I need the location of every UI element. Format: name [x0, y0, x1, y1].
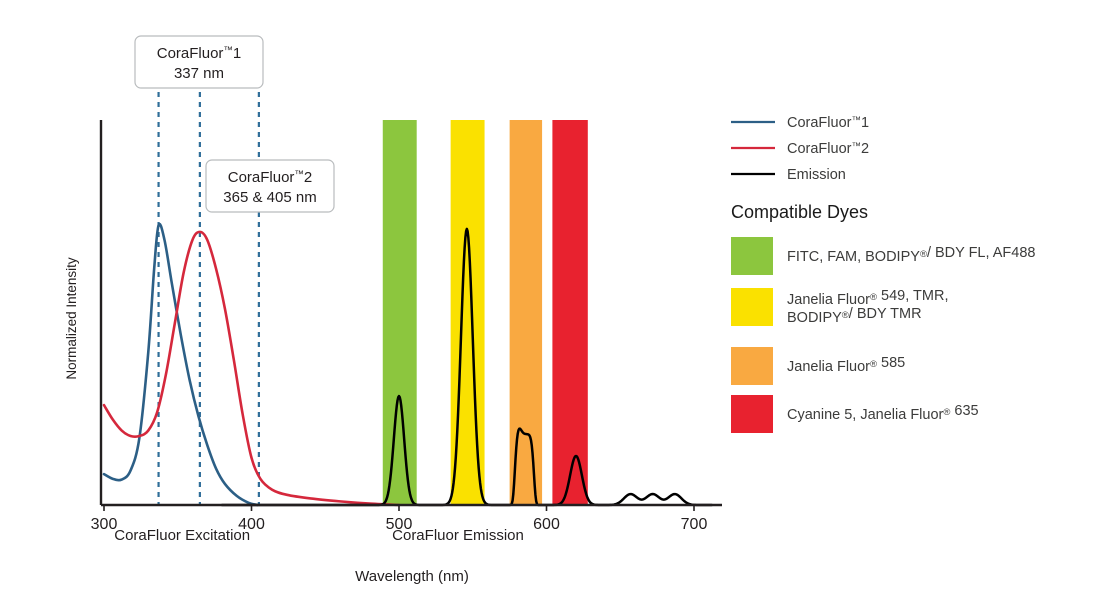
- callout-line-2: 337 nm: [174, 65, 224, 82]
- dye-label-3-line-1: Janelia Fluor® 585: [787, 355, 905, 375]
- dye-band-red: [552, 120, 587, 505]
- legend-label-2: CoraFluor™2: [787, 141, 869, 157]
- dye-label-4-line-1: Cyanine 5, Janelia Fluor® 635: [787, 403, 979, 423]
- x-tick-label-700: 700: [681, 516, 708, 533]
- dye-swatch-1: [731, 237, 773, 275]
- dye-legend-item-4: Cyanine 5, Janelia Fluor® 635: [731, 395, 979, 433]
- legend-heading: Compatible Dyes: [731, 202, 868, 222]
- region-label-excitation: CoraFluor Excitation: [114, 527, 250, 544]
- x-tick-label-600: 600: [533, 516, 560, 533]
- dye-band-green: [383, 120, 417, 505]
- chart-canvas: 300400500600700Normalized IntensityWavel…: [0, 0, 1110, 612]
- callout-1: CoraFluor™1337 nm: [135, 36, 263, 88]
- spectra-figure: 300400500600700Normalized IntensityWavel…: [0, 0, 1110, 612]
- dye-label-2-line-1: Janelia Fluor® 549, TMR,: [787, 288, 948, 308]
- y-axis-title: Normalized Intensity: [64, 257, 79, 380]
- x-axis-title: Wavelength (nm): [355, 568, 469, 585]
- dye-legend-item-2: Janelia Fluor® 549, TMR,BODIPY®/ BDY TMR: [731, 288, 948, 326]
- legend-label-3: Emission: [787, 167, 846, 183]
- dye-band-orange: [510, 120, 542, 505]
- dye-swatch-4: [731, 395, 773, 433]
- region-label-emission: CoraFluor Emission: [392, 527, 524, 544]
- dye-swatch-2: [731, 288, 773, 326]
- dye-legend-item-3: Janelia Fluor® 585: [731, 347, 905, 385]
- dye-label-2-line-2: BODIPY®/ BDY TMR: [787, 306, 922, 326]
- callout-boxes: CoraFluor™1337 nmCoraFluor™2365 & 405 nm: [135, 36, 334, 212]
- callout-2: CoraFluor™2365 & 405 nm: [206, 160, 334, 212]
- dye-bands: [383, 120, 588, 505]
- dye-label-1-line-1: FITC, FAM, BODIPY®/ BDY FL, AF488: [787, 245, 1035, 265]
- callout-line-2: 365 & 405 nm: [223, 189, 316, 206]
- legend-label-1: CoraFluor™1: [787, 115, 869, 131]
- dye-legend-item-1: FITC, FAM, BODIPY®/ BDY FL, AF488: [731, 237, 1035, 275]
- excitation-curve-2: [104, 232, 399, 505]
- dye-swatch-3: [731, 347, 773, 385]
- legend: CoraFluor™1CoraFluor™2EmissionCompatible…: [731, 115, 1035, 433]
